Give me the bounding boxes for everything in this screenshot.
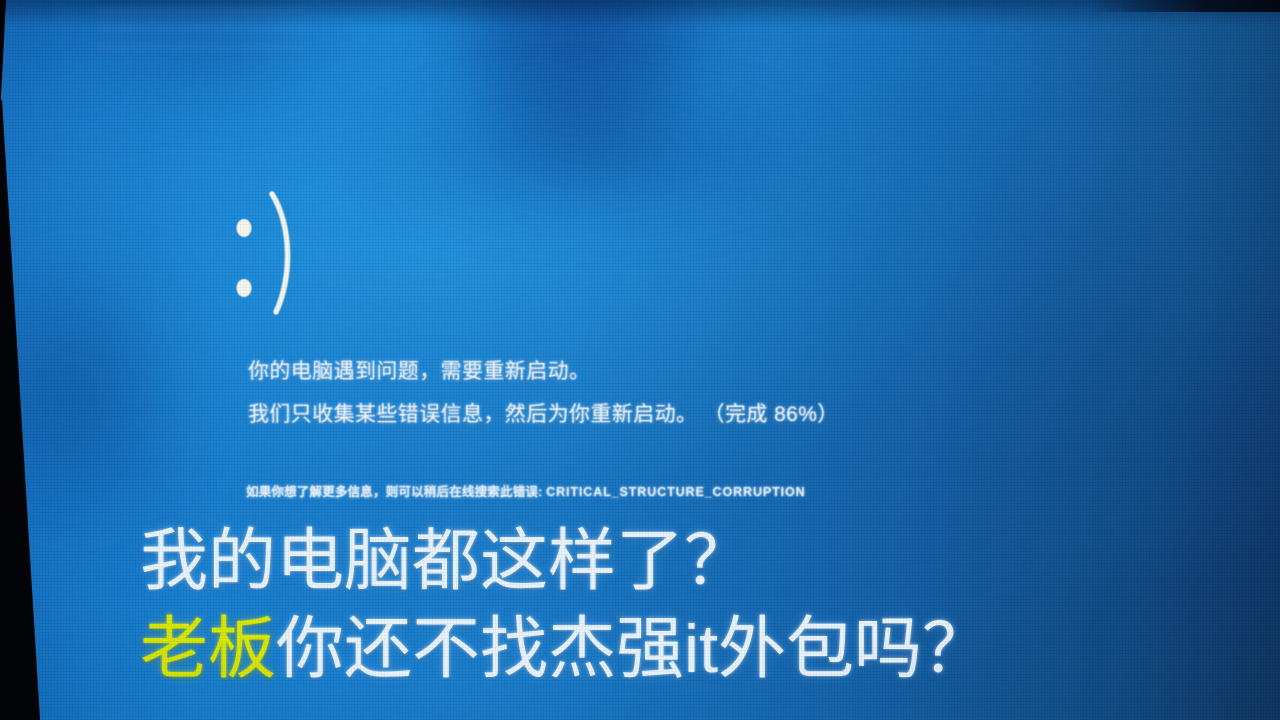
monitor-bezel-top-right	[1090, 0, 1280, 12]
bsod-message-line-1: 你的电脑遇到问题，需要重新启动。	[248, 355, 590, 385]
caption-line-2-rest: 你还不找杰强it外包吗？	[276, 611, 990, 687]
caption-highlight-boss: 老板	[140, 611, 276, 687]
caption-line-2: 老板你还不找杰强it外包吗？	[140, 606, 1240, 692]
photographed-monitor-screen: 你的电脑遇到问题，需要重新启动。 我们只收集某些错误信息，然后为你重新启动。 （…	[0, 0, 1280, 720]
sad-face-icon	[232, 188, 302, 316]
caption-line-1: 我的电脑都这样了？	[140, 518, 1240, 604]
bsod-stop-code: CRITICAL_STRUCTURE_CORRUPTION	[546, 485, 805, 499]
bsod-more-info-line: 如果你想了解更多信息，则可以稍后在线搜索此错误: CRITICAL_STRUCT…	[246, 481, 806, 500]
bsod-more-info-prefix: 如果你想了解更多信息，则可以稍后在线搜索此错误:	[246, 485, 546, 499]
bsod-message-line-2: 我们只收集某些错误信息，然后为你重新启动。 （完成 86%）	[248, 398, 839, 428]
